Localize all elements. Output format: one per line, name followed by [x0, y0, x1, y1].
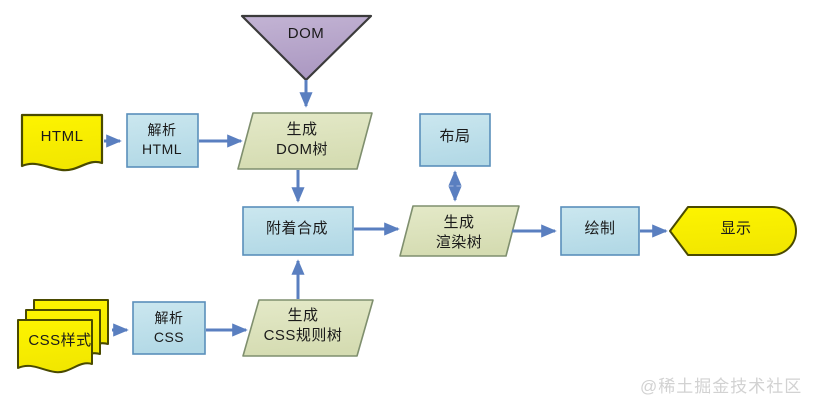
flowchart-canvas: DOM HTML 解析 HTML 生成 DOM树 布局 附着合成 生成 渲染树 … — [0, 0, 813, 411]
node-attach-shape — [243, 207, 353, 255]
node-gen-render-shape — [400, 206, 519, 256]
node-html-shape — [22, 115, 102, 170]
node-dom-shape — [242, 16, 371, 80]
flowchart-shapes-layer — [0, 0, 813, 411]
node-gen-dom-shape — [238, 113, 372, 169]
node-layout-shape — [420, 114, 490, 166]
node-parse-css-shape — [133, 302, 205, 354]
node-gen-cssom-shape — [243, 300, 373, 356]
node-display-shape — [670, 207, 796, 255]
node-parse-html-shape — [127, 114, 198, 167]
node-css-src-shape — [18, 320, 92, 372]
node-paint-shape — [561, 207, 639, 255]
